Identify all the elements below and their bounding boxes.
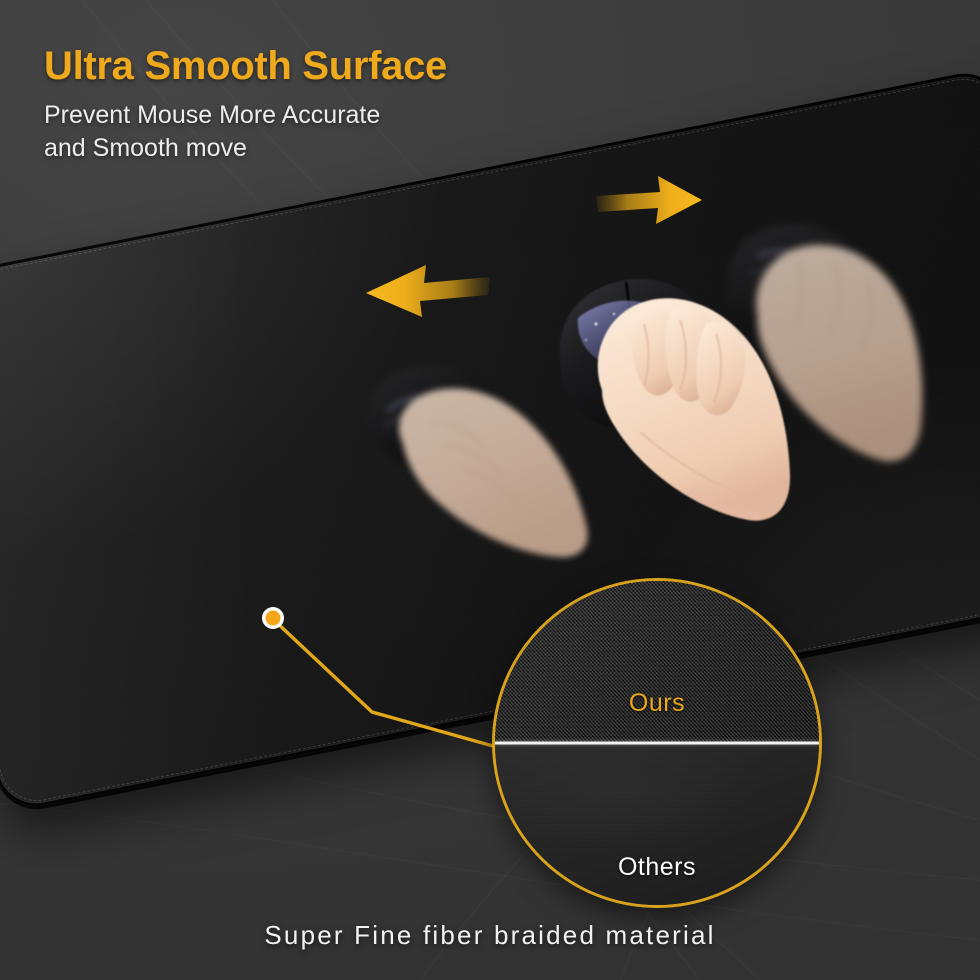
page-title: Ultra Smooth Surface xyxy=(44,44,447,89)
subtitle-line-1: Prevent Mouse More Accurate xyxy=(44,99,380,132)
magnifier-circle: Ours Others xyxy=(492,578,822,908)
arrow-right-icon xyxy=(596,174,702,226)
hand-with-mouse-right-ghost xyxy=(690,204,947,474)
magnifier-ours-half xyxy=(495,581,819,743)
magnifier-ours-label: Ours xyxy=(495,689,819,718)
material-caption: Super Fine fiber braided material xyxy=(0,920,980,951)
subtitle: Prevent Mouse More Accurate and Smooth m… xyxy=(44,99,380,166)
magnifier-divider xyxy=(495,742,819,745)
subtitle-line-2: and Smooth move xyxy=(44,132,380,165)
product-marketing-image: Ours Others Ultra Smooth Surface Prevent… xyxy=(0,0,980,980)
magnifier-others-label: Others xyxy=(495,853,819,882)
braided-fabric-texture xyxy=(495,581,819,743)
arrow-left-icon xyxy=(366,261,490,319)
